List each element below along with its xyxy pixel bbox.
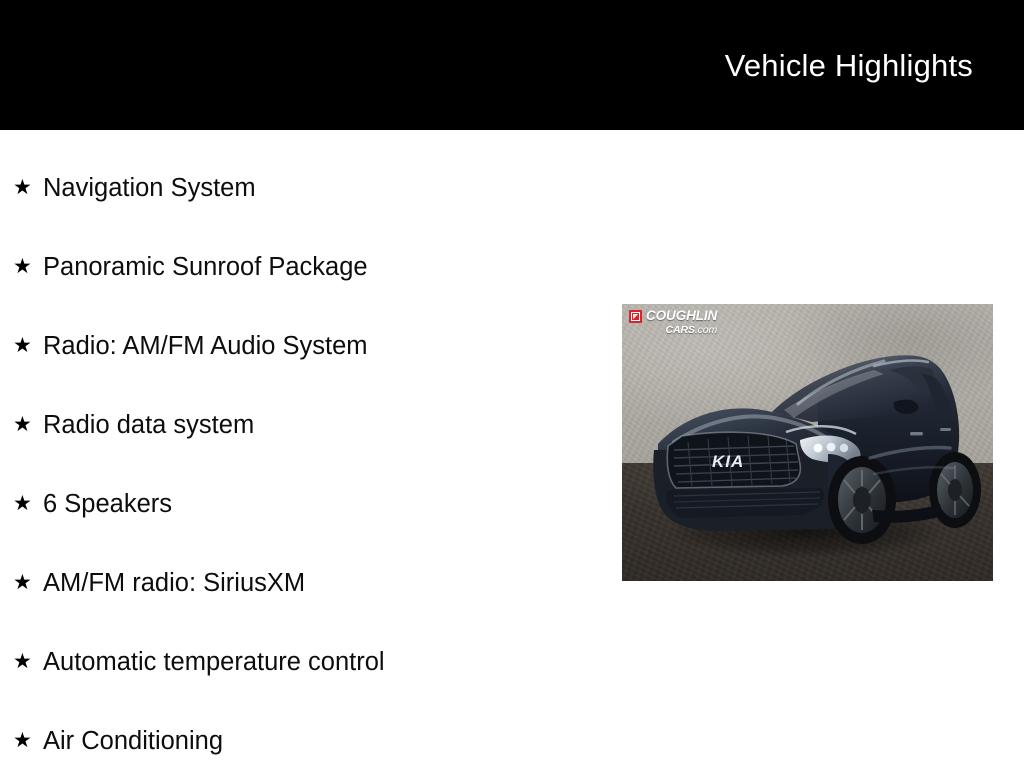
watermark-dotcom: .com [695, 324, 717, 336]
star-icon: ★ [13, 730, 43, 751]
star-icon: ★ [13, 335, 43, 356]
list-item: ★ Air Conditioning [0, 701, 600, 780]
star-icon: ★ [13, 493, 43, 514]
list-item-label: Navigation System [43, 173, 256, 203]
list-item-label: Radio: AM/FM Audio System [43, 331, 368, 361]
list-item: ★ Radio data system [0, 385, 600, 464]
kia-grille-badge: KIA [712, 452, 744, 471]
dealer-watermark: COUGHLIN CARS.com [629, 309, 717, 335]
watermark-text: COUGHLIN CARS.com [646, 309, 717, 335]
list-item: ★ 6 Speakers [0, 464, 600, 543]
list-item-label: AM/FM radio: SiriusXM [43, 568, 305, 598]
list-item: ★ Automatic temperature control [0, 622, 600, 701]
page-title: Vehicle Highlights [725, 47, 973, 85]
coughlin-logo-icon [629, 310, 642, 323]
list-item-label: Automatic temperature control [43, 647, 385, 677]
star-icon: ★ [13, 177, 43, 198]
list-item-label: Air Conditioning [43, 726, 223, 756]
list-item-label: 6 Speakers [43, 489, 172, 519]
star-icon: ★ [13, 572, 43, 593]
star-icon: ★ [13, 256, 43, 277]
star-icon: ★ [13, 414, 43, 435]
front-wheel [828, 456, 896, 544]
list-item-label: Panoramic Sunroof Package [43, 252, 368, 282]
list-item: ★ AM/FM radio: SiriusXM [0, 543, 600, 622]
watermark-cars: CARS [665, 324, 694, 336]
watermark-line-1: COUGHLIN [646, 309, 717, 323]
list-item: ★ Navigation System [0, 148, 600, 227]
svg-text:KIA: KIA [712, 452, 744, 471]
vehicle-illustration: KIA [622, 304, 993, 581]
list-item-label: Radio data system [43, 410, 254, 440]
star-icon: ★ [13, 651, 43, 672]
list-item: ★ Radio: AM/FM Audio System [0, 306, 600, 385]
vehicle-photo: KIA [622, 304, 993, 581]
list-item: ★ Panoramic Sunroof Package [0, 227, 600, 306]
watermark-line-2: CARS.com [646, 325, 717, 336]
header-bar: Vehicle Highlights [0, 0, 1024, 130]
vehicle-highlights-list: ★ Navigation System ★ Panoramic Sunroof … [0, 148, 600, 780]
